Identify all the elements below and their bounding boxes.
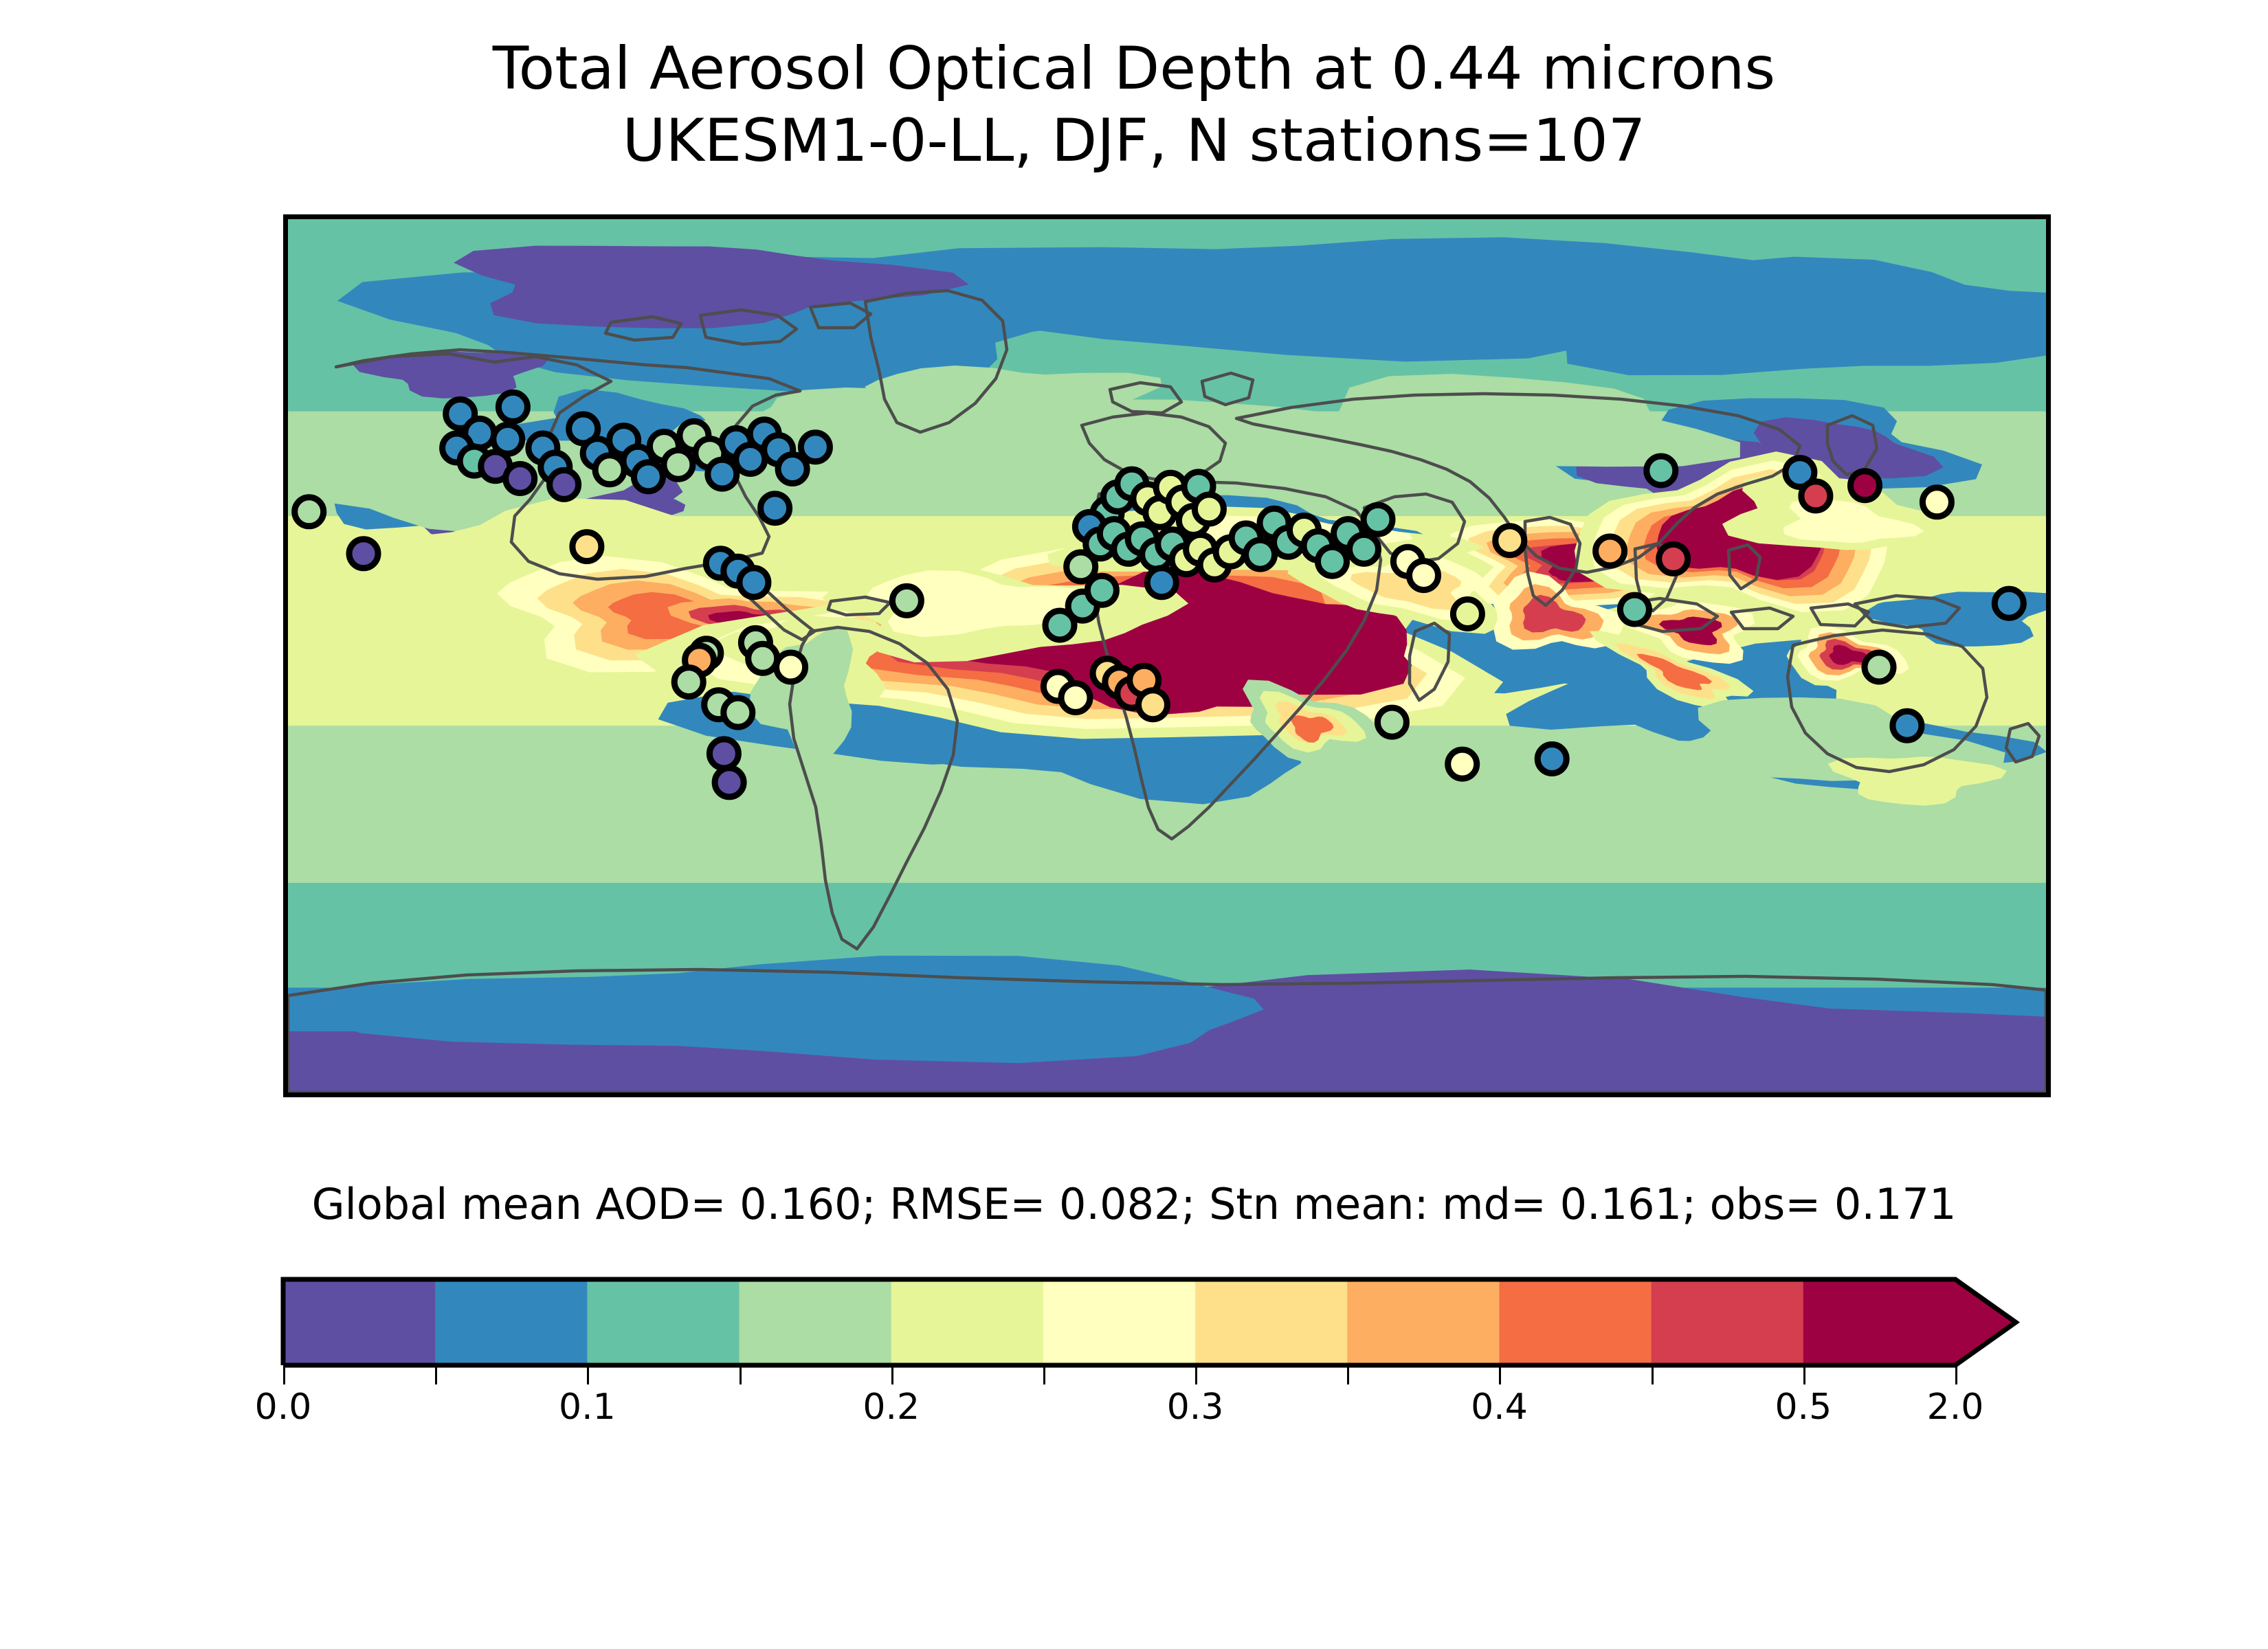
station-marker: [1453, 600, 1482, 629]
aod-map: [288, 219, 2046, 1092]
colorbar-tick-label: 0.3: [1167, 1387, 1224, 1428]
colorbar-swatches: [283, 1279, 2015, 1365]
station-marker: [1865, 653, 1893, 682]
station-marker: [801, 433, 830, 462]
station-marker: [715, 768, 744, 797]
station-marker: [1851, 471, 1880, 500]
figure-canvas: Total Aerosol Optical Depth at 0.44 micr…: [0, 0, 2268, 1649]
colorbar-tick-marks: [283, 1365, 2015, 1386]
station-marker: [295, 497, 324, 526]
station-marker: [1067, 552, 1096, 581]
map-axes: [283, 214, 2051, 1097]
colorbar-tick: [1652, 1365, 1654, 1384]
title-line-2: UKESM1-0-LL, DJF, N stations=107: [0, 105, 2268, 177]
station-marker: [1659, 544, 1688, 573]
station-marker: [709, 739, 738, 768]
station-marker: [498, 392, 527, 421]
station-marker: [892, 586, 921, 615]
station-marker: [1410, 561, 1438, 590]
title-line-1: Total Aerosol Optical Depth at 0.44 micr…: [0, 33, 2268, 105]
contour-field-layer: [288, 219, 2046, 1092]
station-marker: [1147, 568, 1176, 597]
station-marker: [1620, 595, 1649, 624]
station-marker: [1194, 495, 1223, 524]
station-marker: [1647, 456, 1676, 485]
station-marker: [664, 450, 693, 479]
station-marker: [1496, 526, 1524, 555]
colorbar-tick-labels: 0.00.10.20.30.40.52.0: [0, 1387, 2268, 1442]
colorbar: [283, 1279, 1955, 1365]
station-marker: [1448, 750, 1477, 778]
station-marker: [1350, 535, 1379, 563]
colorbar-tick: [1195, 1365, 1197, 1384]
station-marker: [674, 668, 703, 697]
colorbar-tick-label: 0.5: [1775, 1387, 1832, 1428]
station-marker: [1318, 547, 1347, 576]
station-marker: [349, 539, 378, 568]
station-marker: [1537, 745, 1566, 774]
colorbar-tick-label: 0.1: [559, 1387, 616, 1428]
station-marker: [572, 532, 601, 561]
station-marker: [550, 470, 579, 499]
statistics-caption: Global mean AOD= 0.160; RMSE= 0.082; Stn…: [0, 1179, 2268, 1229]
colorbar-tick: [891, 1365, 893, 1384]
station-marker: [1139, 691, 1168, 719]
station-marker: [761, 494, 790, 523]
colorbar-tick: [283, 1365, 285, 1384]
station-marker: [740, 568, 768, 597]
colorbar-tick: [1499, 1365, 1501, 1384]
colorbar-tick: [587, 1365, 589, 1384]
station-marker: [493, 425, 522, 453]
station-marker: [506, 464, 535, 493]
colorbar-tick: [1803, 1365, 1805, 1384]
station-marker: [724, 698, 753, 727]
station-marker: [634, 462, 663, 491]
station-marker: [1801, 482, 1830, 511]
colorbar-tick: [1955, 1365, 1957, 1384]
station-marker: [1246, 540, 1275, 569]
station-marker: [748, 644, 777, 673]
station-marker: [1377, 708, 1406, 737]
colorbar-tick-label: 0.2: [863, 1387, 920, 1428]
station-marker: [1994, 589, 2023, 618]
colorbar-tick-label: 2.0: [1927, 1387, 1984, 1428]
colorbar-tick: [740, 1365, 742, 1384]
station-marker: [1922, 488, 1951, 517]
station-marker: [708, 460, 737, 489]
figure-title: Total Aerosol Optical Depth at 0.44 micr…: [0, 33, 2268, 177]
colorbar-tick-label: 0.0: [255, 1387, 312, 1428]
station-marker: [1364, 505, 1392, 534]
colorbar-tick: [1347, 1365, 1349, 1384]
station-marker: [1596, 537, 1625, 565]
colorbar-tick: [435, 1365, 437, 1384]
colorbar-tick-label: 0.4: [1471, 1387, 1528, 1428]
station-marker: [595, 456, 624, 484]
station-marker: [1061, 684, 1090, 713]
station-marker: [777, 653, 805, 682]
station-marker: [1893, 711, 1922, 740]
colorbar-tick: [1043, 1365, 1045, 1384]
